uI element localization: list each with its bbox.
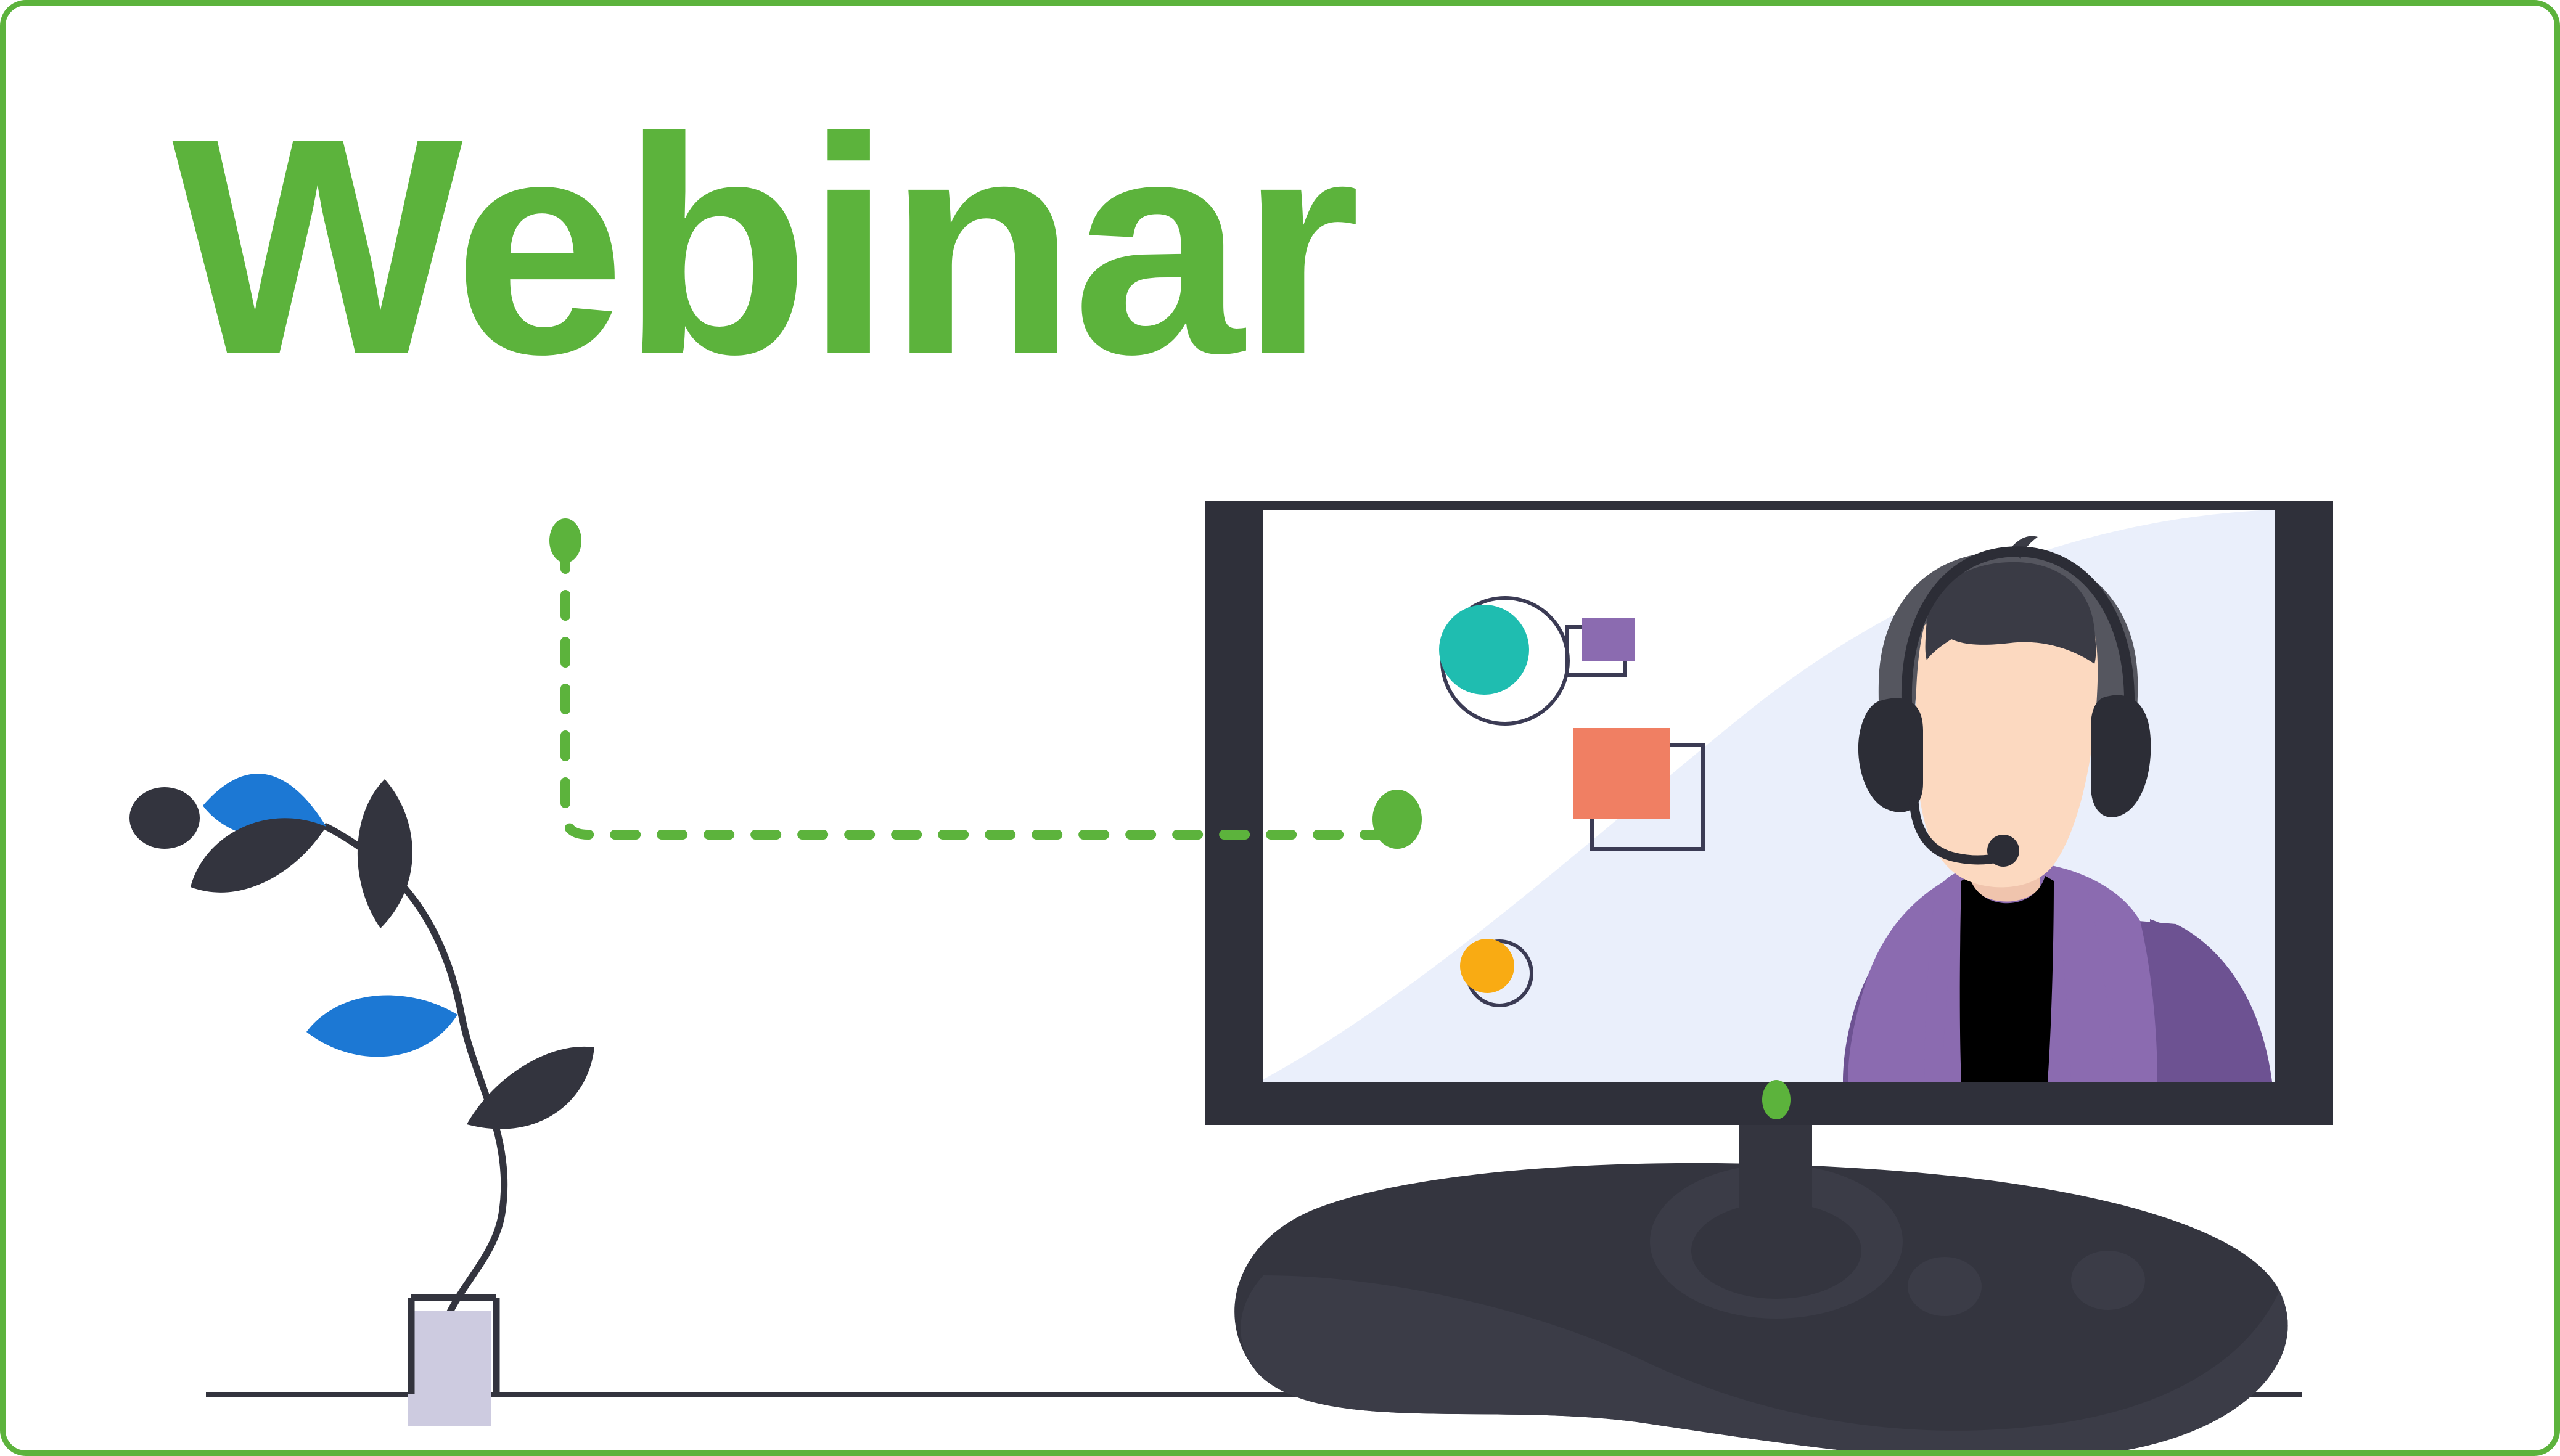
webinar-illustration — [6, 6, 2560, 1456]
leaf-blue-middle — [306, 995, 457, 1057]
connector-dot-top — [549, 518, 581, 563]
purple-square-icon — [1582, 618, 1635, 661]
monitor-base-dot-right — [2071, 1251, 2145, 1310]
amber-circle-icon — [1460, 939, 1514, 993]
pot-fill-overflow — [408, 1394, 491, 1426]
teal-circle-icon — [1439, 605, 1529, 695]
leaf-dark-upper-left — [191, 818, 326, 893]
webinar-card: Webinar — [0, 0, 2560, 1456]
monitor-base-dot-left — [1908, 1257, 1982, 1316]
sprout-plant — [129, 774, 594, 1426]
pot-fill — [408, 1311, 491, 1394]
monitor-stand-neck — [1739, 1125, 1812, 1258]
monitor-power-led-icon — [1762, 1080, 1791, 1119]
monitor-screen[interactable] — [1263, 510, 2276, 1086]
plant-stem — [326, 827, 504, 1362]
floating-dot-icon — [129, 787, 200, 849]
leaf-dark-top — [358, 779, 412, 928]
coral-square-icon — [1573, 728, 1670, 819]
desktop-monitor[interactable] — [1205, 501, 2333, 1456]
shirt — [1960, 876, 2054, 1082]
headset-mic-tip-icon — [1987, 835, 2019, 867]
connector-dot-right — [1372, 790, 1422, 849]
